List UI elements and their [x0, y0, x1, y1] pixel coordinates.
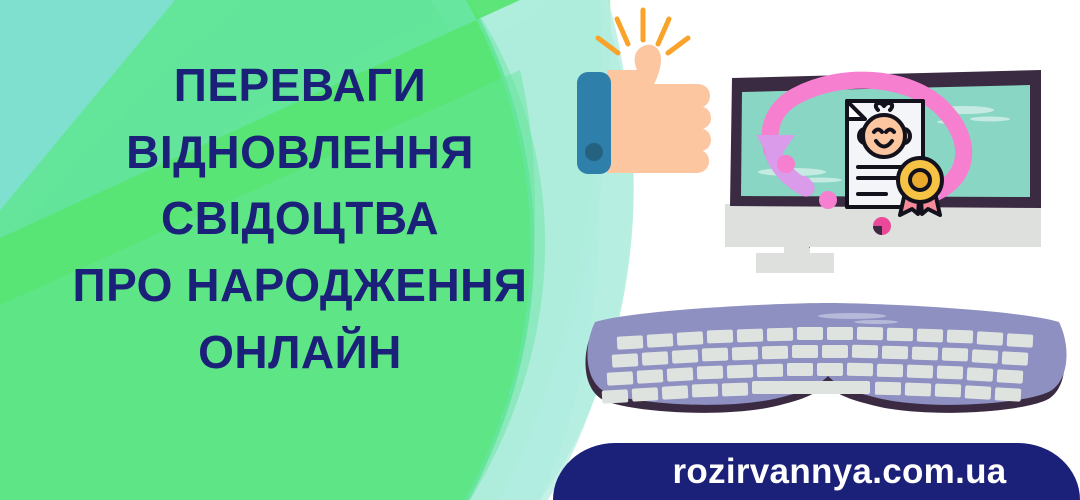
page-title: ПЕРЕВАГИ ВІДНОВЛЕННЯ СВІДОЦТВА ПРО НАРОД…: [0, 52, 600, 385]
desktop-monitor: [725, 70, 1041, 273]
hero-illustration: [560, 0, 1080, 460]
headline-line-2: ВІДНОВЛЕННЯ: [0, 119, 600, 186]
headline-line-1: ПЕРЕВАГИ: [0, 52, 600, 119]
keyboard: [585, 303, 1066, 413]
refresh-dot-3: [819, 191, 837, 209]
headline-line-4: ПРО НАРОДЖЕННЯ: [0, 252, 600, 319]
headline-line-3: СВІДОЦТВА: [0, 185, 600, 252]
ray-right-2: [668, 38, 688, 53]
website-url-ribbon[interactable]: rozirvannya.com.ua: [553, 443, 1080, 500]
medal-inner: [910, 170, 930, 190]
refresh-dot-1: [777, 155, 795, 173]
award-medal-icon: [898, 158, 942, 215]
thumbs-up-icon: [577, 45, 711, 174]
headline-line-5: ОНЛАЙН: [0, 319, 600, 386]
promo-banner: ПЕРЕВАГИ ВІДНОВЛЕННЯ СВІДОЦТВА ПРО НАРОД…: [0, 0, 1080, 500]
ray-left-1: [617, 19, 628, 44]
hand-shape: [607, 45, 711, 173]
sleeve-button: [585, 143, 603, 161]
ray-right-1: [658, 19, 669, 44]
website-url-text: rozirvannya.com.ua: [626, 452, 1006, 492]
monitor-logo-dot: [873, 217, 891, 235]
refresh-dot-2: [794, 176, 812, 194]
baby-head: [863, 115, 905, 157]
keyboard-spacebar: [752, 381, 870, 394]
ray-left-2: [598, 38, 618, 53]
